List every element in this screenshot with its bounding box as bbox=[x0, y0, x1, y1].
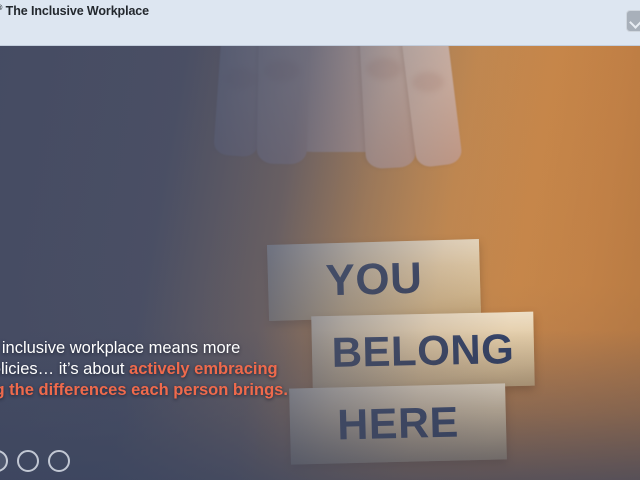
caption-text: ust policies… it’s about bbox=[0, 360, 129, 378]
carousel-dot-3[interactable] bbox=[48, 450, 70, 472]
slide-stage[interactable]: YOU BELONG HERE ng an inclusive workplac… bbox=[0, 46, 640, 480]
caption-accent-text: aluing the differences each person bring… bbox=[0, 381, 288, 399]
carousel-dot-2[interactable] bbox=[17, 450, 39, 472]
caption-text: ng an inclusive workplace means more bbox=[0, 339, 240, 357]
page-title-rest: The Inclusive Workplace bbox=[2, 4, 149, 18]
page-subtitle: ion bbox=[0, 21, 149, 37]
header-bar: Briefs® The Inclusive Workplace ion bbox=[0, 0, 640, 46]
header-title-block: Briefs® The Inclusive Workplace ion bbox=[0, 3, 149, 37]
carousel-indicators bbox=[0, 450, 70, 472]
caption-line-3: aluing the differences each person bring… bbox=[0, 380, 376, 401]
slide-caption: ng an inclusive workplace means more ust… bbox=[0, 338, 376, 401]
caption-line-2: ust policies… it’s about actively embrac… bbox=[0, 359, 376, 380]
caption-accent-text: actively embracing bbox=[129, 360, 278, 378]
caption-line-1: ng an inclusive workplace means more bbox=[0, 338, 376, 359]
slide-viewer: Briefs® The Inclusive Workplace ion YOU bbox=[0, 0, 640, 480]
page-title: Briefs® The Inclusive Workplace bbox=[0, 3, 149, 20]
chevron-down-icon bbox=[629, 16, 640, 29]
carousel-dot-1[interactable] bbox=[0, 450, 8, 472]
header-menu-button[interactable] bbox=[626, 10, 640, 32]
